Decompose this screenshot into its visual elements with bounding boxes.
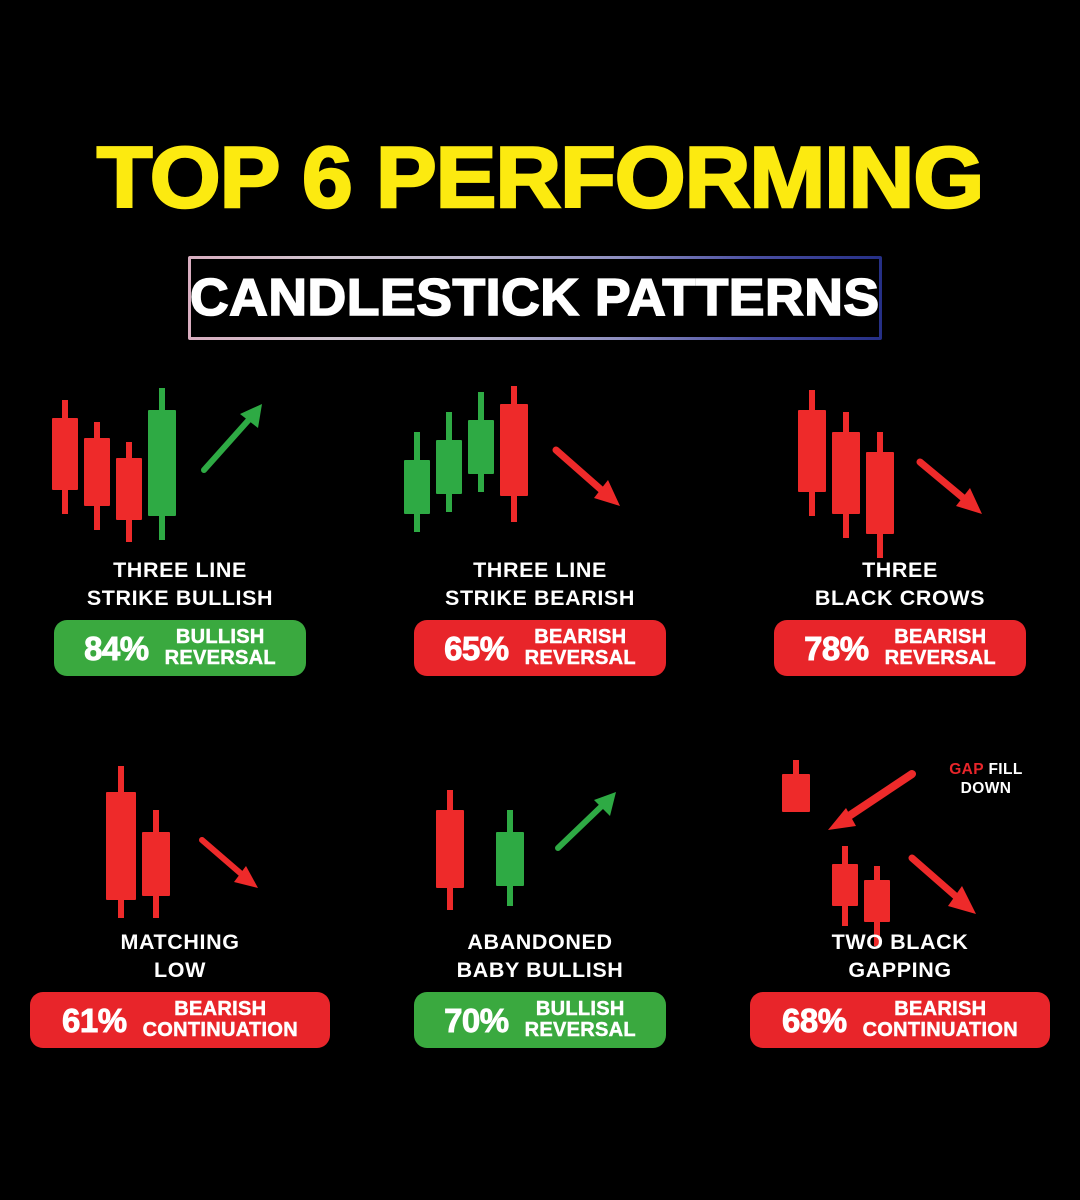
stat-badge: 61% BEARISH CONTINUATION <box>30 992 330 1048</box>
candlestick-chart: GAP FILL DOWN <box>720 748 1080 926</box>
signal-label: BULLISH REVERSAL <box>525 999 636 1041</box>
candlestick-chart <box>360 748 720 926</box>
down-arrow-red-icon <box>906 852 996 932</box>
up-arrow-green-icon <box>550 786 630 866</box>
header: TOP 6 PERFORMING CANDLESTICK PATTERNS <box>0 0 1080 370</box>
candle-red <box>832 846 858 926</box>
candlestick-chart <box>0 376 360 554</box>
pattern-card[interactable]: THREE BLACK CROWS 78% BEARISH REVERSAL <box>720 376 1080 748</box>
signal-label: BEARISH REVERSAL <box>885 627 996 669</box>
pattern-card[interactable]: THREE LINE STRIKE BEARISH 65% BEARISH RE… <box>360 376 720 748</box>
success-rate: 68% <box>782 1004 847 1037</box>
success-rate: 61% <box>62 1004 127 1037</box>
stat-badge: 84% BULLISH REVERSAL <box>54 620 306 676</box>
candle-green <box>436 412 462 512</box>
candle-red <box>500 386 528 522</box>
success-rate: 70% <box>444 1004 509 1037</box>
down-arrow-red-icon <box>550 442 640 522</box>
signal-label: BULLISH REVERSAL <box>165 627 276 669</box>
poster-root: TOP 6 PERFORMING CANDLESTICK PATTERNS <box>0 0 1080 1200</box>
signal-label: BEARISH CONTINUATION <box>143 999 298 1041</box>
stat-badge: 65% BEARISH REVERSAL <box>414 620 666 676</box>
candle-red <box>142 810 170 918</box>
candle-red <box>116 442 142 542</box>
candle-red <box>782 760 810 812</box>
candle-red <box>798 390 826 516</box>
down-arrow-red-icon <box>914 454 1004 534</box>
candle-green <box>148 388 176 540</box>
gap-fill-arrow-icon <box>816 768 926 848</box>
pattern-card[interactable]: ABANDONED BABY BULLISH 70% BULLISH REVER… <box>360 748 720 1120</box>
success-rate: 65% <box>444 632 509 665</box>
pattern-card[interactable]: MATCHING LOW 61% BEARISH CONTINUATION <box>0 748 360 1120</box>
signal-label: BEARISH REVERSAL <box>525 627 636 669</box>
pattern-grid: THREE LINE STRIKE BULLISH 84% BULLISH RE… <box>0 376 1080 1120</box>
page-title: TOP 6 PERFORMING <box>0 134 1080 222</box>
pattern-title: THREE BLACK CROWS <box>720 556 1080 612</box>
pattern-title: THREE LINE STRIKE BULLISH <box>0 556 360 612</box>
down-arrow-red-icon <box>196 832 286 912</box>
subtitle-box: CANDLESTICK PATTERNS <box>188 256 882 340</box>
gap-fill-down-annotation: GAP FILL DOWN <box>916 760 1056 798</box>
stat-badge: 70% BULLISH REVERSAL <box>414 992 666 1048</box>
pattern-card[interactable]: GAP FILL DOWN TWO BLACK GAPPING 68% BEAR… <box>720 748 1080 1120</box>
success-rate: 84% <box>84 632 149 665</box>
pattern-card[interactable]: THREE LINE STRIKE BULLISH 84% BULLISH RE… <box>0 376 360 748</box>
pattern-title: TWO BLACK GAPPING <box>720 928 1080 984</box>
candlestick-chart <box>0 748 360 926</box>
candle-green <box>468 392 494 492</box>
candle-red <box>436 790 464 910</box>
candle-red <box>106 766 136 918</box>
candlestick-chart <box>360 376 720 554</box>
success-rate: 78% <box>804 632 869 665</box>
subtitle-inner: CANDLESTICK PATTERNS <box>191 259 879 337</box>
stat-badge: 68% BEARISH CONTINUATION <box>750 992 1050 1048</box>
candle-green <box>404 432 430 532</box>
pattern-title: THREE LINE STRIKE BEARISH <box>360 556 720 612</box>
pattern-title: ABANDONED BABY BULLISH <box>360 928 720 984</box>
candle-red <box>52 400 78 514</box>
pattern-title: MATCHING LOW <box>0 928 360 984</box>
candle-red <box>866 432 894 558</box>
stat-badge: 78% BEARISH REVERSAL <box>774 620 1026 676</box>
up-arrow-green-icon <box>196 398 276 478</box>
candle-red <box>832 412 860 538</box>
signal-label: BEARISH CONTINUATION <box>863 999 1018 1041</box>
subtitle-text: CANDLESTICK PATTERNS <box>190 268 880 328</box>
candlestick-chart <box>720 376 1080 554</box>
candle-green <box>496 810 524 906</box>
gap-word: GAP <box>949 761 984 778</box>
candle-red <box>84 422 110 530</box>
